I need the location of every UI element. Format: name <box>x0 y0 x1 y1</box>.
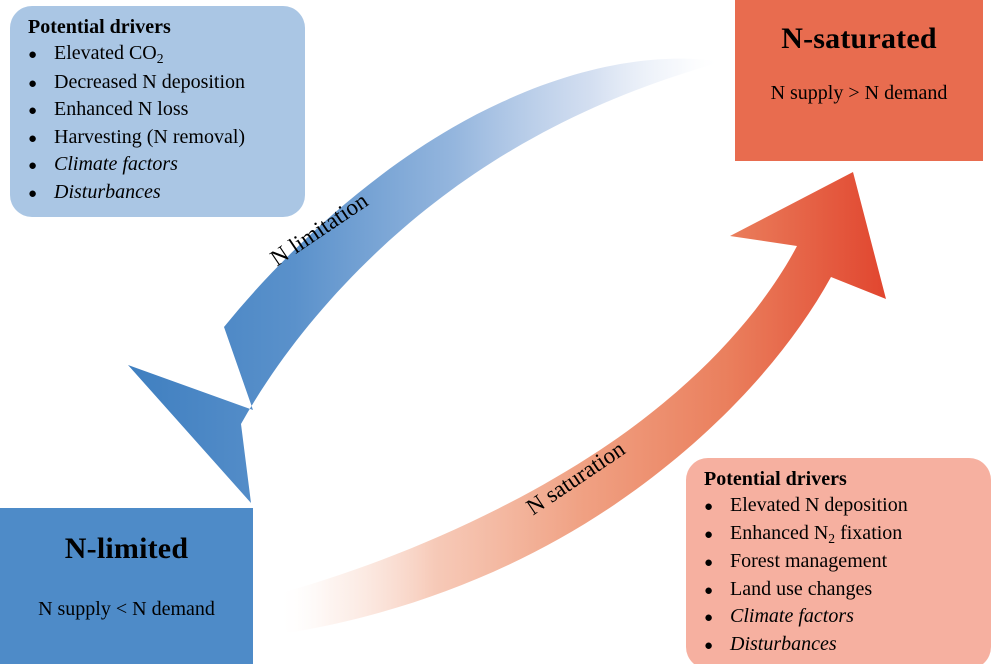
bullet-icon: ● <box>28 48 54 63</box>
drivers-list-item-label: Decreased N deposition <box>54 69 245 97</box>
drivers-list-item-label: Land use changes <box>730 576 872 604</box>
drivers-panel-limitation: Potential drivers ●Elevated CO2●Decrease… <box>10 6 305 217</box>
bullet-icon: ● <box>704 556 730 571</box>
drivers-list-item-label: Forest management <box>730 548 887 576</box>
drivers-list-saturation: ●Elevated N deposition●Enhanced N2 fixat… <box>704 492 975 659</box>
drivers-panel-saturation-title: Potential drivers <box>704 468 975 491</box>
bullet-icon: ● <box>704 528 730 543</box>
drivers-list-item-label: Enhanced N2 fixation <box>730 520 902 549</box>
bullet-icon: ● <box>704 500 730 515</box>
drivers-list-item-label: Climate factors <box>730 603 854 631</box>
drivers-list-item-label: Enhanced N loss <box>54 96 188 124</box>
state-title-n-saturated: N-saturated <box>781 22 937 56</box>
drivers-list-item: ●Disturbances <box>28 179 289 207</box>
state-title-n-limited: N-limited <box>65 532 188 566</box>
drivers-list-item-label: Climate factors <box>54 151 178 179</box>
diagram-canvas: N-saturated N supply > N demand N-limite… <box>0 0 991 664</box>
drivers-list-item: ●Enhanced N loss <box>28 96 289 124</box>
bullet-icon: ● <box>704 584 730 599</box>
drivers-panel-saturation: Potential drivers ●Elevated N deposition… <box>686 458 991 664</box>
drivers-list-limitation: ●Elevated CO2●Decreased N deposition●Enh… <box>28 40 289 207</box>
state-subtitle-n-saturated: N supply > N demand <box>771 82 948 105</box>
drivers-list-item-label: Elevated N deposition <box>730 492 908 520</box>
bullet-icon: ● <box>28 104 54 119</box>
bullet-icon: ● <box>28 77 54 92</box>
bullet-icon: ● <box>28 187 54 202</box>
drivers-list-item: ●Decreased N deposition <box>28 69 289 97</box>
bullet-icon: ● <box>28 159 54 174</box>
bullet-icon: ● <box>704 611 730 626</box>
state-subtitle-n-limited: N supply < N demand <box>38 598 215 621</box>
drivers-list-item-label: Disturbances <box>730 631 837 659</box>
drivers-list-item: ●Climate factors <box>28 151 289 179</box>
drivers-list-item: ●Forest management <box>704 548 975 576</box>
bullet-icon: ● <box>704 639 730 654</box>
drivers-list-item-label: Harvesting (N removal) <box>54 124 245 152</box>
drivers-list-item: ●Disturbances <box>704 631 975 659</box>
drivers-list-item: ●Climate factors <box>704 603 975 631</box>
drivers-list-item: ●Enhanced N2 fixation <box>704 520 975 549</box>
state-box-n-saturated: N-saturated N supply > N demand <box>735 0 983 161</box>
drivers-list-item-label: Disturbances <box>54 179 161 207</box>
drivers-list-item: ●Elevated CO2 <box>28 40 289 69</box>
drivers-panel-limitation-title: Potential drivers <box>28 16 289 39</box>
bullet-icon: ● <box>28 132 54 147</box>
state-box-n-limited: N-limited N supply < N demand <box>0 508 253 664</box>
subscript: 2 <box>157 51 164 66</box>
subscript: 2 <box>828 530 835 545</box>
drivers-list-item: ●Elevated N deposition <box>704 492 975 520</box>
drivers-list-item-label: Elevated CO2 <box>54 40 164 69</box>
drivers-list-item: ●Land use changes <box>704 576 975 604</box>
drivers-list-item: ●Harvesting (N removal) <box>28 124 289 152</box>
